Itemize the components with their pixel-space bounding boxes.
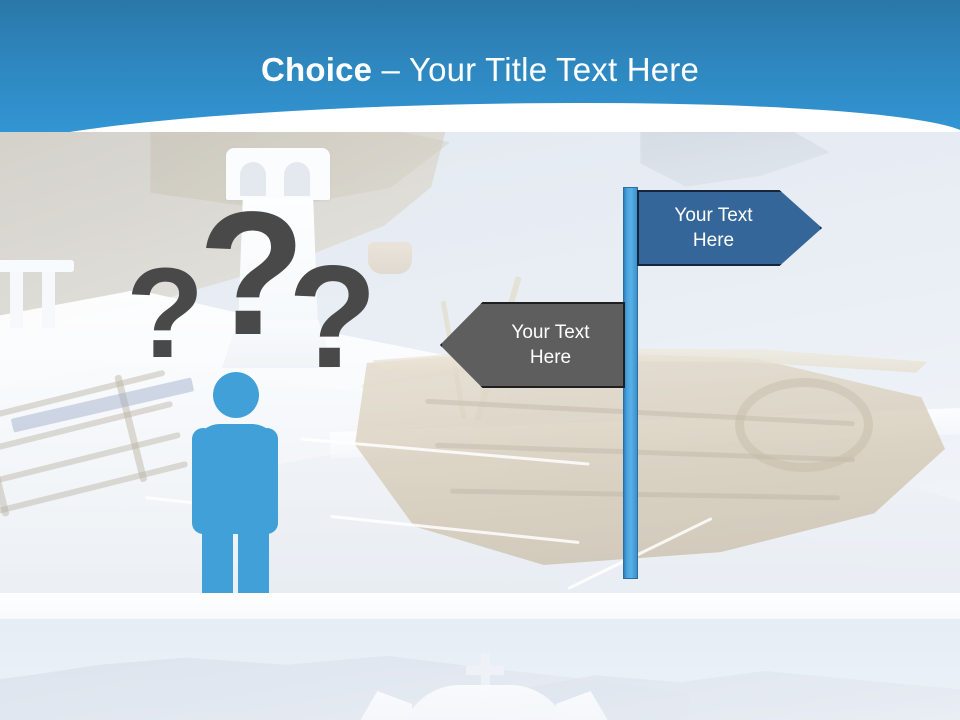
footer-separator-band xyxy=(0,593,960,619)
footer-photo xyxy=(0,619,960,720)
photo-railing xyxy=(0,260,76,330)
footer-white-overlay xyxy=(0,619,960,720)
question-mark-icon: ? xyxy=(288,244,377,390)
slide-canvas: ? ? ? Your Text Here Your Text Here Choi… xyxy=(0,0,960,720)
page-title-rest: Your Title Text Here xyxy=(409,51,699,88)
sign-right-text: Your Text Here xyxy=(639,203,788,253)
header-wave xyxy=(0,95,960,132)
signpost-pole-icon xyxy=(623,187,638,579)
person-head xyxy=(213,372,259,418)
page-title-separator: – xyxy=(372,51,409,88)
page-title: Choice – Your Title Text Here xyxy=(0,50,960,90)
photo-wooden-boat xyxy=(355,260,945,570)
person-torso xyxy=(194,424,278,534)
sign-left-text: Your Text Here xyxy=(478,320,623,370)
question-mark-icon: ? xyxy=(126,250,204,378)
page-title-emphasis: Choice xyxy=(261,51,372,88)
slide-header: Choice – Your Title Text Here xyxy=(0,0,960,132)
person-icon xyxy=(180,372,290,612)
